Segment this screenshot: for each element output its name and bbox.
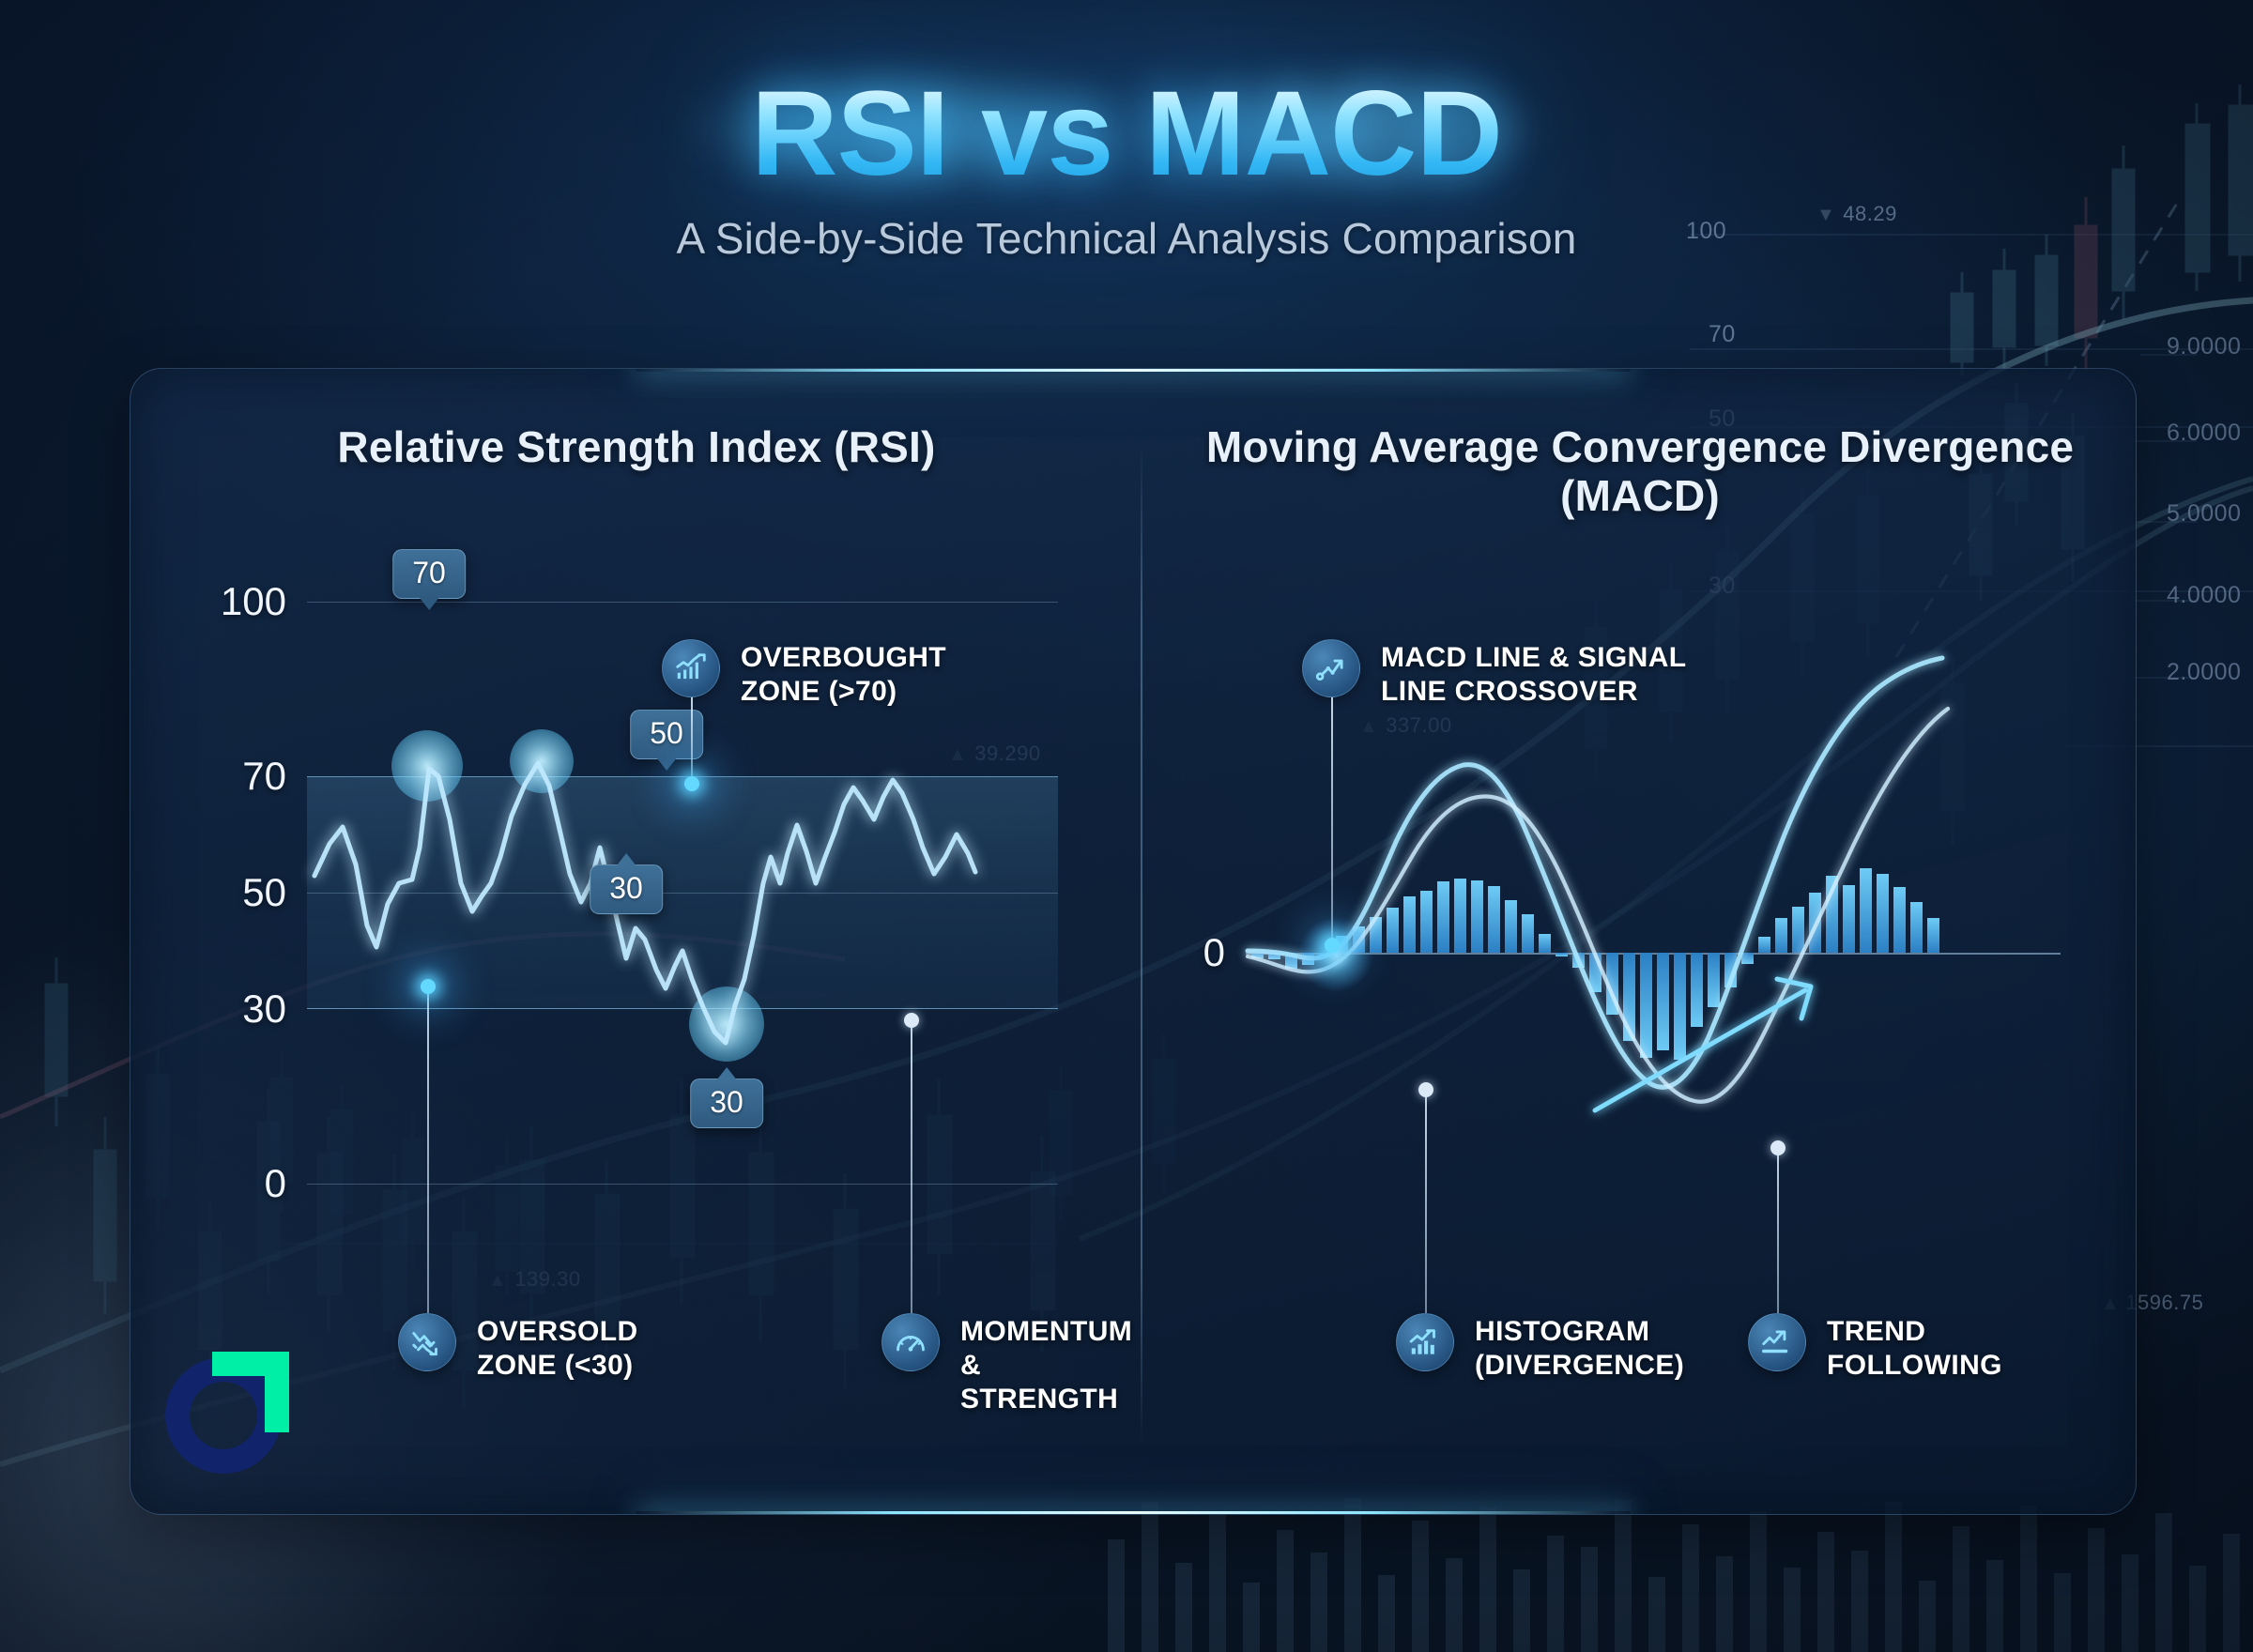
rsi-callout-momentum: MOMENTUM & STRENGTH [881,1313,1142,1416]
trend-up-baseline-icon [1748,1313,1806,1371]
rsi-leader-dot-overbought [684,776,699,791]
rsi-callout-oversold: OVERSOLD ZONE (<30) [398,1313,638,1383]
macd-panel-title: Moving Average Convergence Divergence (M… [1142,423,2137,521]
rsi-ytick: 70 [242,754,286,799]
rsi-leader-dot-oversold [421,979,436,994]
macd-plot-area: 0 [1246,650,2061,1176]
macd-leader-histogram [1425,1090,1427,1313]
bar-chart-up-arrow-icon [662,639,720,697]
rsi-ytick: 50 [242,870,286,915]
macd-leader-dot-histogram [1418,1082,1433,1097]
macd-leader-dot-crossover [1325,938,1340,953]
rsi-leader-overbought [691,697,693,782]
rsi-callout-momentum-label: MOMENTUM & STRENGTH [960,1313,1142,1416]
macd-callout-histogram-label: HISTOGRAM (DIVERGENCE) [1475,1313,1684,1383]
histogram-arrow-icon [1396,1313,1454,1371]
trend-down-arrow-icon [398,1313,456,1371]
macd-panel: Moving Average Convergence Divergence (M… [1142,369,2137,1515]
macd-leader-dot-trend [1770,1140,1786,1155]
rsi-ytick: 100 [221,579,286,624]
rsi-ytick: 30 [242,987,286,1032]
rsi-callout-overbought-label: OVERBOUGHT ZONE (>70) [741,639,946,709]
page-subtitle: A Side-by-Side Technical Analysis Compar… [0,213,2253,264]
rsi-panel: Relative Strength Index (RSI) 100 70 50 … [130,369,1142,1515]
macd-callout-trend-label: TREND FOLLOWING [1827,1313,2002,1383]
rsi-leader-oversold [427,987,429,1313]
gauge-icon [881,1313,940,1371]
rsi-ytick: 0 [265,1161,286,1206]
macd-leader-trend [1777,1148,1779,1313]
rsi-panel-title: Relative Strength Index (RSI) [130,423,1142,472]
macd-ytick-zero: 0 [1203,930,1225,975]
rsi-badge-30-left: 30 [590,864,663,914]
rsi-callout-overbought: OVERBOUGHT ZONE (>70) [662,639,946,709]
brand-logo [156,1344,291,1496]
rsi-badge-70: 70 [392,549,466,599]
macd-callout-histogram: HISTOGRAM (DIVERGENCE) [1396,1313,1684,1383]
logo-mark-icon [156,1344,291,1496]
rsi-badge-30-bottom: 30 [690,1078,763,1128]
rsi-leader-momentum [911,1020,912,1313]
macd-leader-crossover [1331,697,1333,943]
comparison-card: Relative Strength Index (RSI) 100 70 50 … [130,368,2137,1515]
macd-callout-crossover-label: MACD LINE & SIGNAL LINE CROSSOVER [1381,639,1687,709]
line-chart-arrow-icon [1302,639,1360,697]
macd-chart [1246,650,2061,1214]
macd-callout-crossover: MACD LINE & SIGNAL LINE CROSSOVER [1302,639,1687,709]
page-title: RSI vs MACD [0,73,2253,196]
page-header: RSI vs MACD A Side-by-Side Technical Ana… [0,0,2253,264]
rsi-callout-oversold-label: OVERSOLD ZONE (<30) [477,1313,638,1383]
macd-callout-trend: TREND FOLLOWING [1748,1313,2002,1383]
rsi-leader-dot-momentum [904,1013,919,1028]
